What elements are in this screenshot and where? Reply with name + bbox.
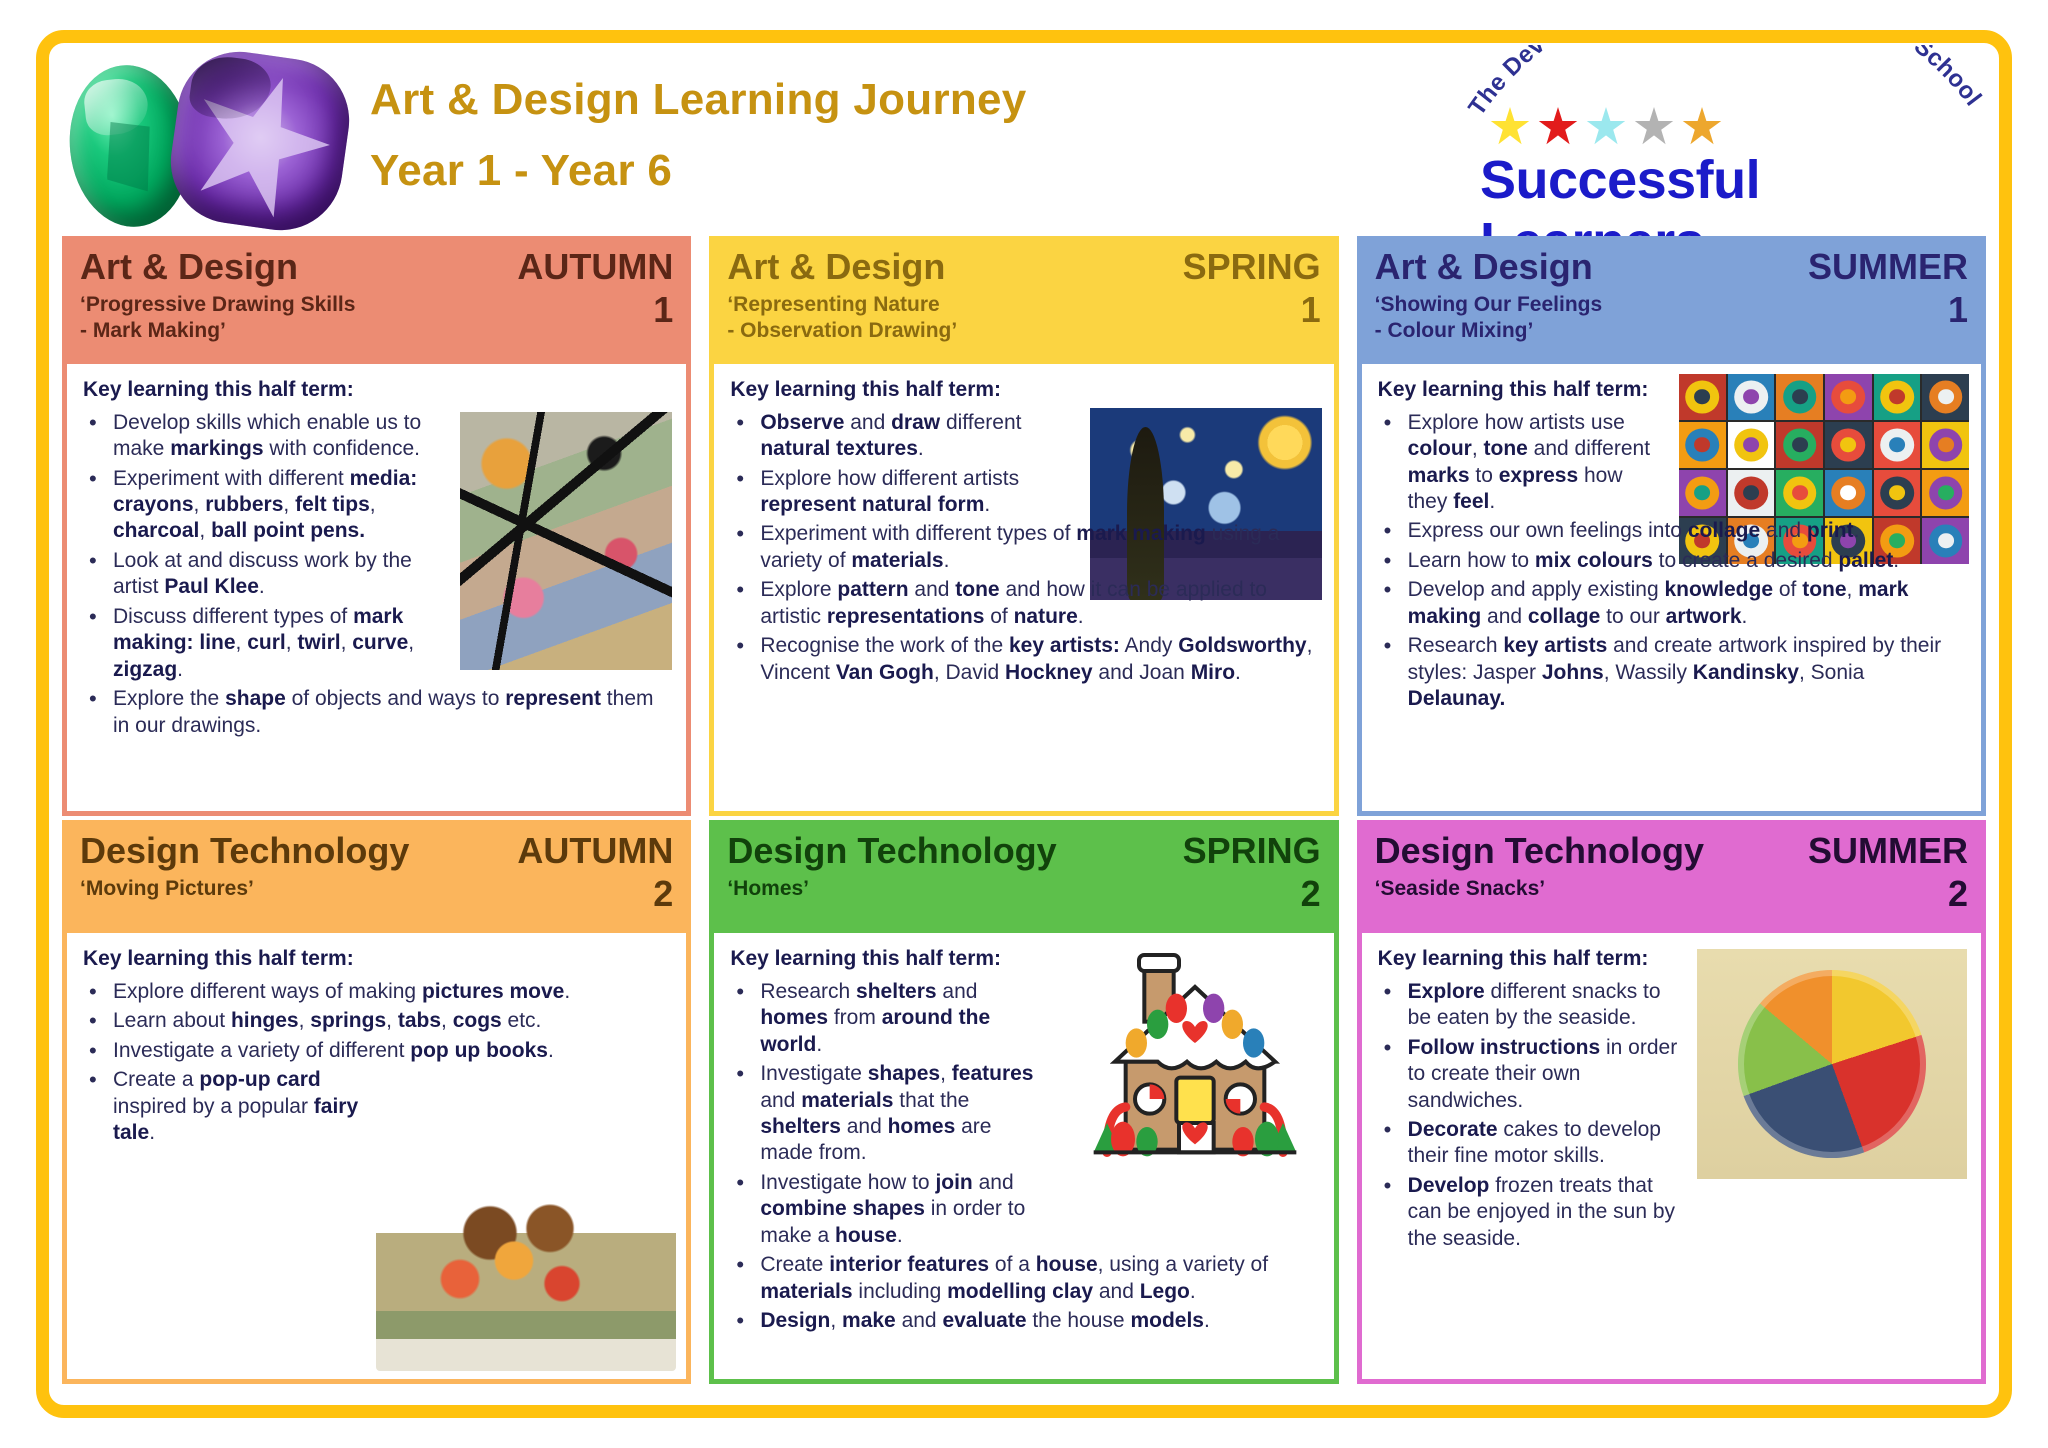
card-term-number: 2 [653,874,673,914]
list-item: Decorate cakes to develop their fine mot… [1378,1117,1965,1170]
list-item: Investigate how to join and combine shap… [730,1170,1317,1249]
list-item: Express our own feelings into collage an… [1378,518,1965,544]
card-term-number: 1 [653,290,673,330]
card-subject: Design Technology [727,832,1056,870]
card-term: SUMMER [1808,832,1968,870]
list-item: Develop and apply existing knowledge of … [1378,577,1965,630]
card-subject: Art & Design [1375,248,1593,286]
list-item: Explore how artists use colour, tone and… [1378,410,1965,516]
key-learning-list: Explore different ways of making picture… [83,979,670,1147]
term-card-autumn-2: Design TechnologyAUTUMN‘Moving Pictures’… [62,820,691,1384]
list-item: Explore pattern and tone and how it can … [730,577,1317,630]
list-item: Follow instructions in order to create t… [1378,1035,1965,1114]
card-term-number: 2 [1948,874,1968,914]
card-topic: ‘Homes’ [727,876,809,902]
purple-gem-icon [163,44,357,238]
list-item: Research shelters and homes from around … [730,979,1317,1058]
card-topic: ‘Progressive Drawing Skills- Mark Making… [80,292,355,345]
star-icon-5 [1682,107,1722,147]
card-body: Key learning this half term:Develop skil… [62,359,691,816]
term-card-spring-1: Art & DesignSPRING‘Representing Nature- … [709,236,1338,816]
card-term-number: 1 [1948,290,1968,330]
list-item: Experiment with different types of mark … [730,521,1317,574]
card-subject: Design Technology [80,832,409,870]
list-item: Research key artists and create artwork … [1378,633,1965,712]
page-subtitle: Year 1 - Year 6 [370,141,1466,200]
star-icon-2 [1538,107,1578,147]
card-header: Design TechnologySPRING‘Homes’2 [709,820,1338,928]
key-learning-label: Key learning this half term: [83,947,670,971]
card-topic: ‘Representing Nature- Observation Drawin… [727,292,957,345]
list-item: Develop skills which enable us to make m… [83,410,670,463]
card-term-number: 2 [1301,874,1321,914]
page-title: Art & Design Learning Journey [370,72,1466,127]
term-card-autumn-1: Art & DesignAUTUMN‘Progressive Drawing S… [62,236,691,816]
term-card-spring-2: Design TechnologySPRING‘Homes’2Key learn… [709,820,1338,1384]
card-body: Key learning this half term:Research she… [709,928,1338,1384]
card-topic: ‘Moving Pictures’ [80,876,254,902]
list-item: Create a pop-up card inspired by a popul… [83,1067,670,1146]
list-item: Investigate a variety of different pop u… [83,1038,670,1064]
list-item: Explore different ways of making picture… [83,979,670,1005]
list-item: Learn how to mix colours to create a des… [1378,548,1965,574]
card-body: Key learning this half term:Observe and … [709,359,1338,816]
list-item: Explore how different artists represent … [730,466,1317,519]
list-item: Experiment with different media: crayons… [83,466,670,545]
poster-header: Art & Design Learning Journey Year 1 - Y… [62,46,1986,226]
card-topic: ‘Seaside Snacks’ [1375,876,1545,902]
list-item: Recognise the work of the key artists: A… [730,633,1317,686]
term-card-summer-2: Design TechnologySUMMER‘Seaside Snacks’2… [1357,820,1986,1384]
card-header: Art & DesignSUMMER‘Showing Our Feelings-… [1357,236,1986,359]
card-term-number: 1 [1301,290,1321,330]
card-body: Key learning this half term:Explore diff… [62,928,691,1384]
card-header: Art & DesignAUTUMN‘Progressive Drawing S… [62,236,691,359]
card-subject: Design Technology [1375,832,1704,870]
card-body: Key learning this half term:Explore how … [1357,359,1986,816]
card-topic: ‘Showing Our Feelings- Colour Mixing’ [1375,292,1603,345]
term-cards-grid: Art & DesignAUTUMN‘Progressive Drawing S… [62,236,1986,1384]
card-header: Design TechnologySUMMER‘Seaside Snacks’2 [1357,820,1986,928]
card-term: AUTUMN [517,248,673,286]
title-block: Art & Design Learning Journey Year 1 - Y… [352,72,1466,200]
list-item: Create interior features of a house, usi… [730,1252,1317,1305]
card-subject: Art & Design [727,248,945,286]
list-item: Discuss different types of mark making: … [83,604,670,683]
card-header: Design TechnologyAUTUMN‘Moving Pictures’… [62,820,691,928]
star-icon-1 [1490,107,1530,147]
list-item: Observe and draw different natural textu… [730,410,1317,463]
list-item: Look at and discuss work by the artist P… [83,548,670,601]
card-term: AUTUMN [517,832,673,870]
star-icon-4 [1634,107,1674,147]
key-learning-label: Key learning this half term: [730,378,1317,402]
school-logo: The Devonshire Hill Nursery and Primary … [1466,51,1986,221]
card-subject: Art & Design [80,248,298,286]
pop-up-book-thumbnail [376,1141,676,1371]
key-learning-list: Research shelters and homes from around … [730,979,1317,1335]
list-item: Design, make and evaluate the house mode… [730,1308,1317,1334]
card-term: SPRING [1183,248,1321,286]
star-icon-3 [1586,107,1626,147]
list-item: Develop frozen treats that can be enjoye… [1378,1173,1965,1252]
key-learning-list: Observe and draw different natural textu… [730,410,1317,687]
term-card-summer-1: Art & DesignSUMMER‘Showing Our Feelings-… [1357,236,1986,816]
list-item: Learn about hinges, springs, tabs, cogs … [83,1008,670,1034]
card-term: SPRING [1183,832,1321,870]
list-item: Explore the shape of objects and ways to… [83,686,670,739]
card-term: SUMMER [1808,248,1968,286]
list-item: Explore different snacks to be eaten by … [1378,979,1965,1032]
key-learning-list: Explore how artists use colour, tone and… [1378,410,1965,713]
key-learning-label: Key learning this half term: [83,378,670,402]
gemstones-graphic [62,51,352,221]
list-item: Investigate shapes, features and materia… [730,1061,1317,1167]
key-learning-list: Develop skills which enable us to make m… [83,410,670,739]
card-header: Art & DesignSPRING‘Representing Nature- … [709,236,1338,359]
learning-journey-poster: Art & Design Learning Journey Year 1 - Y… [0,0,2048,1448]
card-body: Key learning this half term:Explore diff… [1357,928,1986,1384]
five-stars [1490,107,1722,147]
